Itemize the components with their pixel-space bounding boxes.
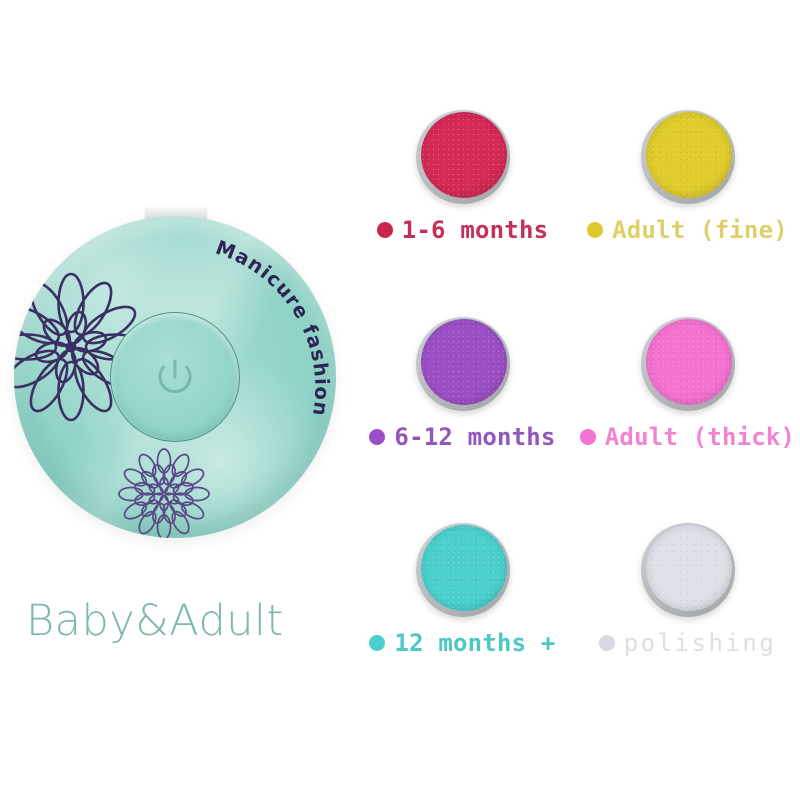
pad-label-text: Adult (thick) (605, 423, 795, 451)
pad-disc[interactable] (416, 317, 510, 411)
bullet-icon (377, 222, 393, 238)
pad-label-row: Adult (thick) (575, 423, 800, 451)
pad-abrasive-face (421, 525, 507, 611)
pad-label-text: polishing (624, 629, 777, 657)
product-caption: Baby&Adult (26, 596, 284, 646)
pad-disc[interactable] (641, 317, 735, 411)
pad-abrasive-face (421, 112, 507, 198)
pad-label-row: polishing (575, 629, 800, 657)
pad-abrasive-face (646, 112, 732, 198)
pad-disc[interactable] (416, 110, 510, 204)
pad-label-row: 6-12 months (350, 423, 575, 451)
pad-label-text: 1-6 months (402, 216, 549, 244)
flower-decoration-small (118, 448, 210, 538)
pad-grit-texture (421, 525, 507, 611)
pad-grit-texture (421, 112, 507, 198)
pad-item-adult-thick[interactable]: Adult (thick) (575, 303, 800, 510)
nail-trimmer-device: Manicure fashion (14, 216, 336, 538)
pad-abrasive-face (421, 319, 507, 405)
pad-label-row: 12 months + (350, 629, 575, 657)
pad-item-adult-fine[interactable]: Adult (fine) (575, 96, 800, 303)
pad-disc[interactable] (641, 110, 735, 204)
pad-item-polishing[interactable]: polishing (575, 509, 800, 716)
pad-grit-texture (646, 525, 732, 611)
pad-item-12-months-plus[interactable]: 12 months + (350, 509, 575, 716)
bullet-icon (580, 429, 596, 445)
pad-abrasive-face (646, 525, 732, 611)
pad-label-row: 1-6 months (350, 216, 575, 244)
pad-abrasive-face (646, 319, 732, 405)
bullet-icon (369, 635, 385, 651)
product-photo-area: Manicure fashion Baby&Adult (0, 0, 350, 800)
pad-label-text: 12 months + (394, 629, 555, 657)
pad-disc[interactable] (416, 523, 510, 617)
power-icon (147, 349, 203, 405)
pad-label-text: Adult (fine) (612, 216, 788, 244)
sanding-pad-grid: 1-6 months Adult (fine) 6-12 months (350, 96, 800, 716)
pad-item-6-12-months[interactable]: 6-12 months (350, 303, 575, 510)
pad-label-row: Adult (fine) (575, 216, 800, 244)
bullet-icon (587, 222, 603, 238)
pad-disc[interactable] (641, 523, 735, 617)
pad-grit-texture (646, 112, 732, 198)
pad-item-1-6-months[interactable]: 1-6 months (350, 96, 575, 303)
pad-label-text: 6-12 months (394, 423, 555, 451)
bullet-icon (599, 635, 615, 651)
pad-grit-texture (421, 319, 507, 405)
power-button[interactable] (110, 312, 240, 442)
pad-grit-texture (646, 319, 732, 405)
bullet-icon (369, 429, 385, 445)
